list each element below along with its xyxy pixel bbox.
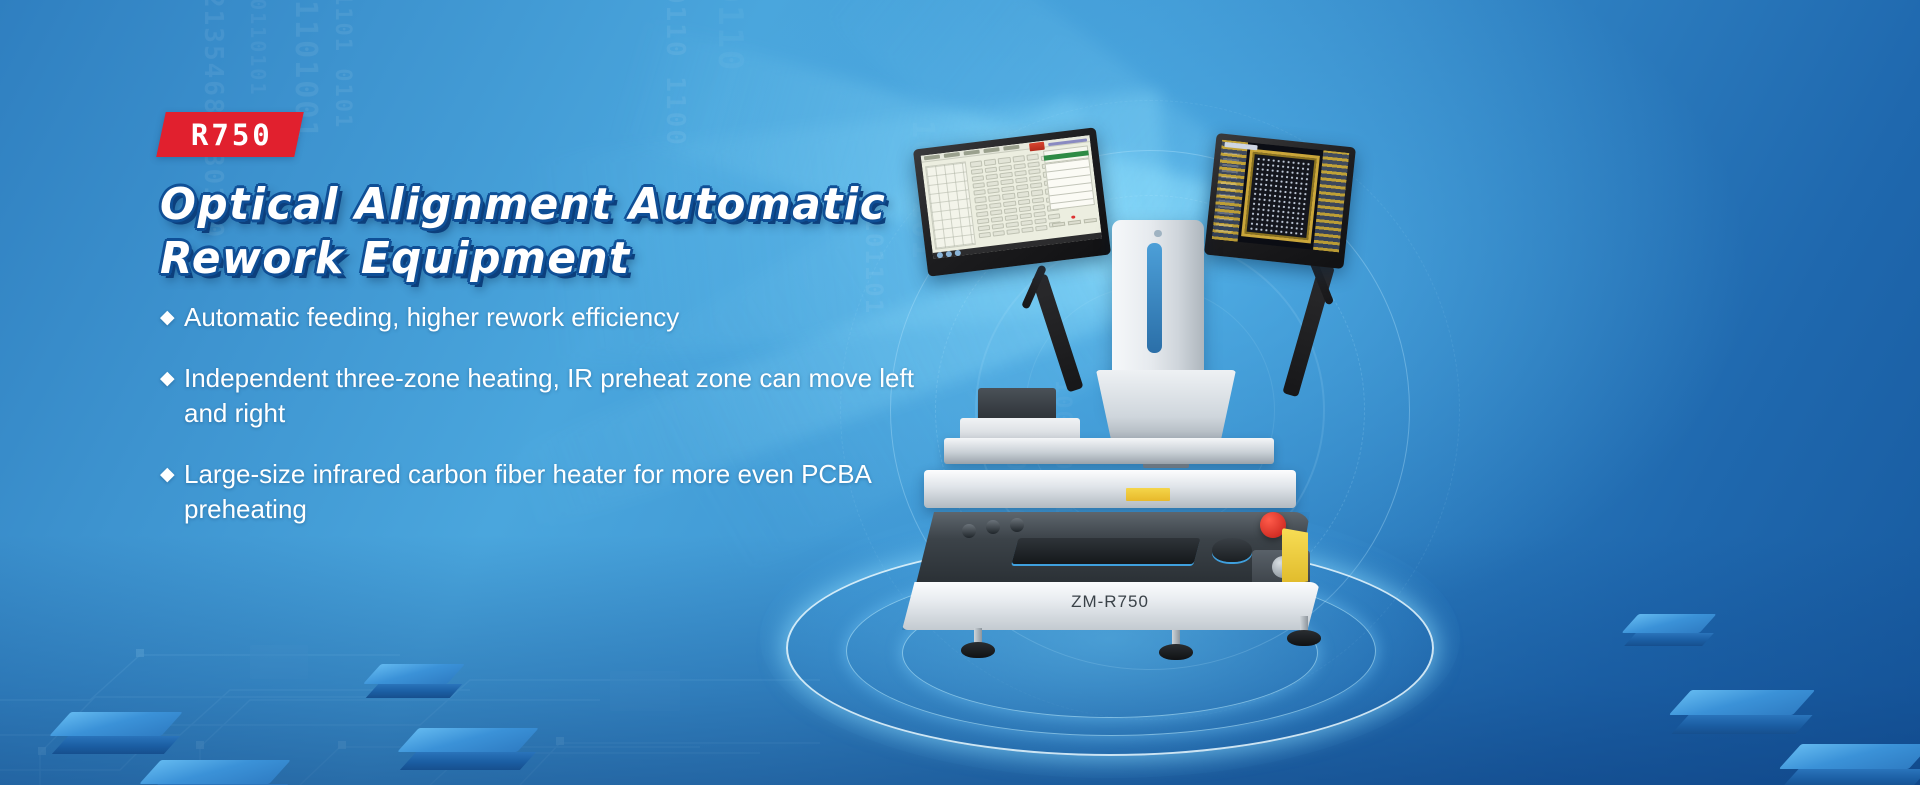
- keyboard[interactable]: [1012, 538, 1201, 564]
- control-software-monitor: [913, 127, 1111, 276]
- list-item: ◆ Large-size infrared carbon fiber heate…: [160, 457, 960, 527]
- model-badge: R750: [156, 112, 303, 157]
- control-knob: [962, 524, 976, 538]
- list-item: ◆ Independent three-zone heating, IR pre…: [160, 361, 960, 431]
- data-table: [1044, 157, 1095, 210]
- diamond-bullet-icon: ◆: [160, 361, 184, 396]
- bga-vision-monitor: [1204, 133, 1356, 269]
- diamond-bullet-icon: ◆: [160, 300, 184, 335]
- control-knob: [1010, 518, 1024, 532]
- pcb-rail-lower: [924, 470, 1296, 508]
- text-content: R750 Optical Alignment Automatic Rework …: [0, 0, 1000, 785]
- chip-block: [1680, 690, 1804, 734]
- control-knob: [986, 520, 1000, 534]
- product-banner: 21354687980110 100110101 01101001 1101 0…: [0, 0, 1920, 785]
- diamond-bullet-icon: ◆: [160, 457, 184, 492]
- chip-block: [1630, 614, 1708, 646]
- model-label: ZM-R750: [900, 592, 1320, 612]
- page-title: Optical Alignment Automatic Rework Equip…: [160, 178, 918, 286]
- yellow-handle: [1282, 528, 1308, 586]
- parameter-grid: [969, 154, 1048, 239]
- chip-block: [1790, 744, 1920, 785]
- pcb-rail-upper: [944, 438, 1274, 464]
- indicator-dot-icon: [1154, 230, 1161, 237]
- temperature-profile-plot: [925, 162, 976, 250]
- model-badge-label: R750: [191, 118, 273, 152]
- monitor-arm-left: [1031, 273, 1083, 392]
- machine-foot: [961, 642, 995, 658]
- feature-list: ◆ Automatic feeding, higher rework effic…: [160, 300, 960, 553]
- feature-text: Automatic feeding, higher rework efficie…: [184, 300, 929, 335]
- feature-text: Large-size infrared carbon fiber heater …: [184, 457, 929, 527]
- alarm-indicator-icon: [1071, 215, 1076, 219]
- feature-text: Independent three-zone heating, IR prehe…: [184, 361, 929, 431]
- monitor-arm-right: [1282, 263, 1335, 397]
- control-software-screen: [921, 135, 1102, 259]
- bga-vision-screen: [1212, 140, 1350, 253]
- machine-foot: [1287, 630, 1321, 646]
- head-light-slot: [1147, 243, 1162, 353]
- list-item: ◆ Automatic feeding, higher rework effic…: [160, 300, 960, 335]
- top-heater-head: [1096, 370, 1236, 448]
- warning-label-icon: [1126, 488, 1170, 501]
- product-image-rework-machine: ZM-R750: [900, 120, 1460, 740]
- bga-ball-grid: [1242, 149, 1320, 244]
- machine-foot: [1159, 644, 1193, 660]
- mouse[interactable]: [1212, 538, 1252, 562]
